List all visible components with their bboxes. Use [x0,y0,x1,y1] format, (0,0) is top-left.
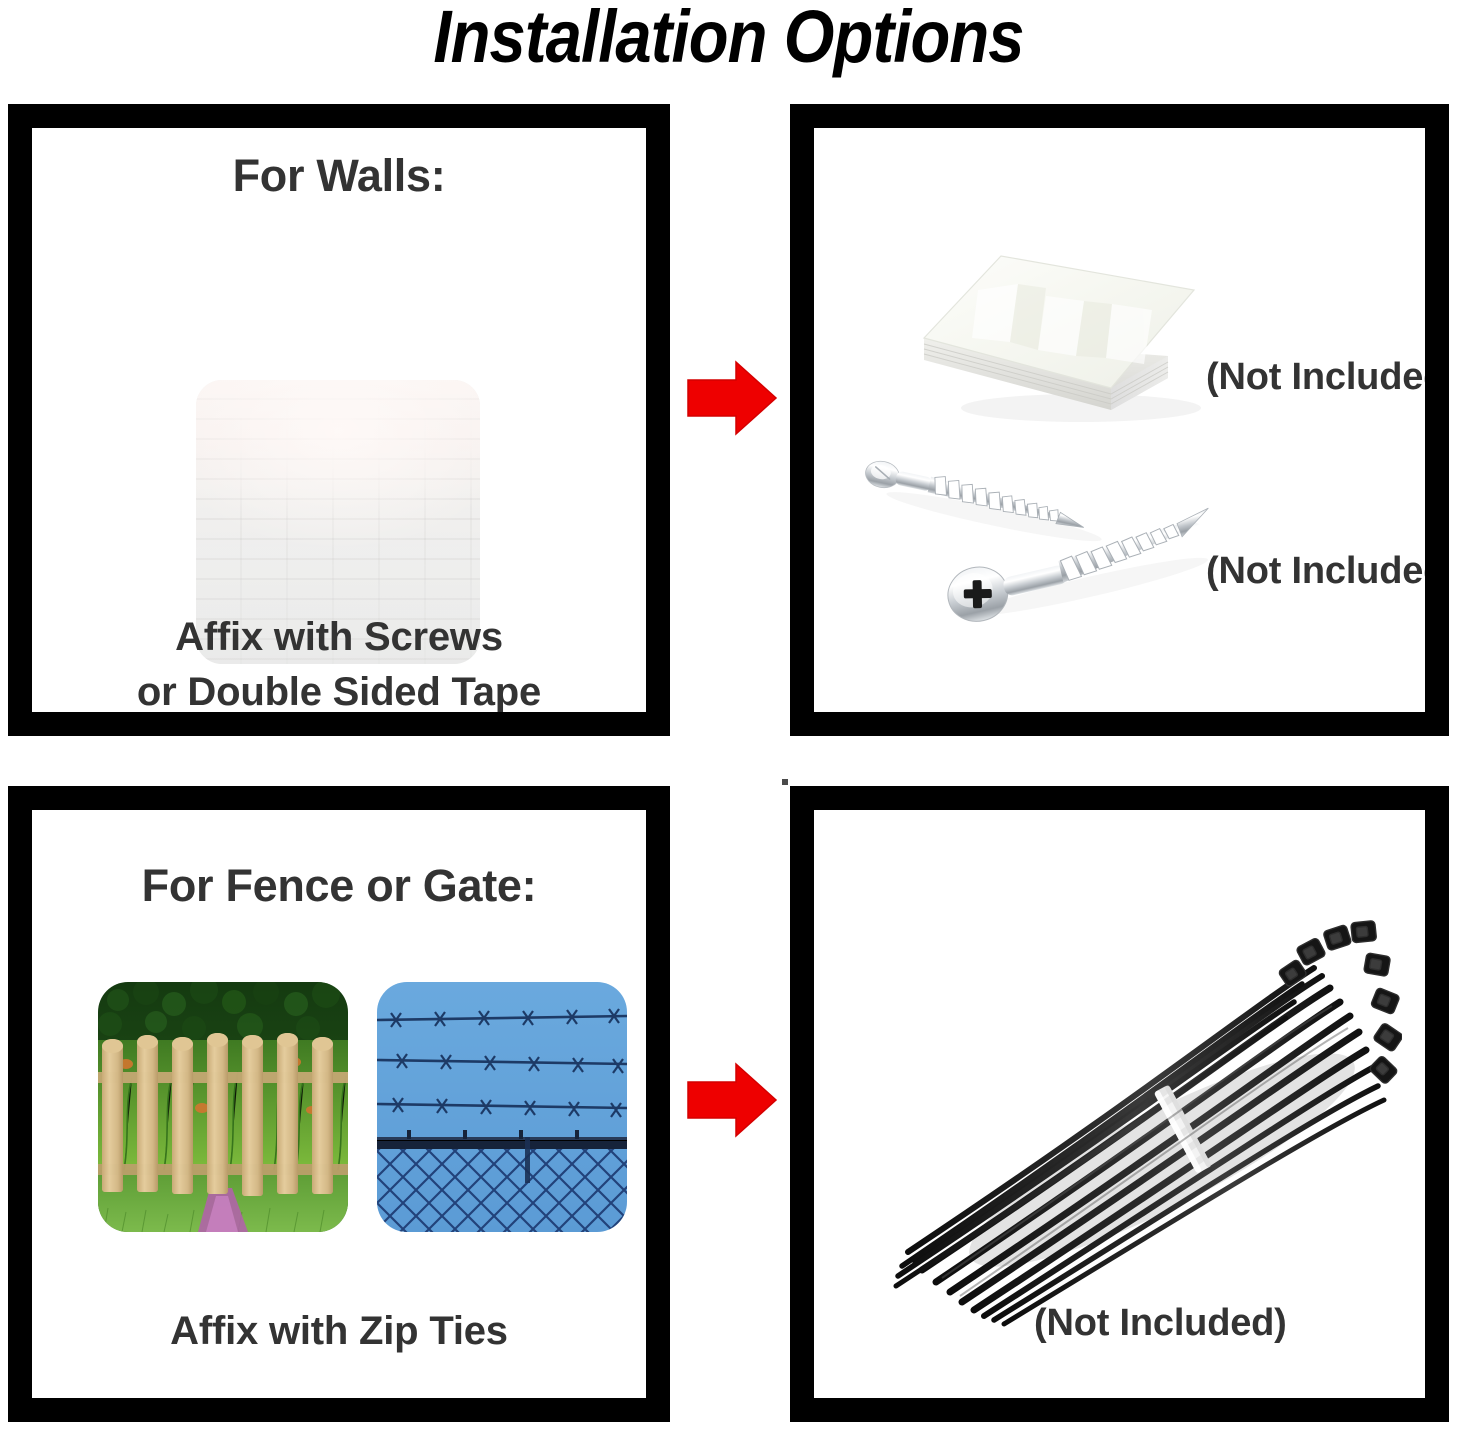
wood-screws-photo [850,446,1250,646]
installation-options-infographic: Installation Options For Walls: Affix wi… [0,0,1457,1434]
page-title: Installation Options [87,0,1369,79]
wooden-picket-fence-photo [98,982,348,1232]
walls-caption-line-2: or Double Sided Tape [32,665,646,712]
panel-for-fence-or-gate: For Fence or Gate: [8,786,670,1422]
panel-for-fence-content: For Fence or Gate: [32,810,646,1398]
red-right-arrow-top [684,358,780,438]
panel-for-walls-content: For Walls: Affix with Screws or Double S… [32,128,646,712]
panel-fence-hardware-content: (Not Included) [814,810,1425,1398]
ziptie-not-included-label: (Not Included) [1034,1302,1287,1345]
image-artifact-speck [782,779,788,785]
panel-wall-hardware: (Not Included) [790,104,1449,736]
panel-for-walls: For Walls: Affix with Screws or Double S… [8,104,670,736]
walls-caption-line-1: Affix with Screws [32,610,646,665]
tape-not-included-label: (Not Included) [1206,356,1425,399]
chain-link-barbed-wire-fence-photo [377,982,627,1232]
panel-wall-hardware-content: (Not Included) [814,128,1425,712]
screws-not-included-label: (Not Included) [1206,550,1425,593]
walls-caption: Affix with Screws or Double Sided Tape [32,610,646,712]
walls-heading: For Walls: [32,150,646,202]
fence-heading: For Fence or Gate: [32,860,646,912]
double-sided-tape-stack-photo [906,238,1226,433]
panel-fence-hardware: (Not Included) [790,786,1449,1422]
red-right-arrow-bottom [684,1060,780,1140]
black-zip-ties-bundle-photo [862,910,1402,1330]
fence-caption: Affix with Zip Ties [32,1304,646,1359]
